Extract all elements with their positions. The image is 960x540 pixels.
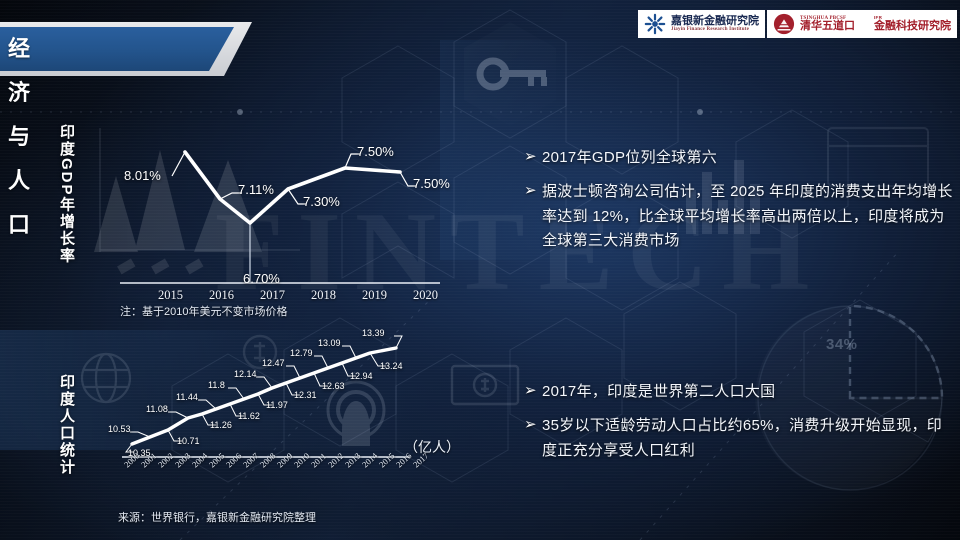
- gdp-xtick: 2015: [158, 288, 183, 303]
- gdp-growth-chart: 8.01% 7.11% 6.70% 7.30% 7.50% 7.50% 2015…: [110, 120, 470, 300]
- bullet-item: ➢ 2017年，印度是世界第二人口大国: [524, 380, 954, 404]
- gdp-xtick: 2017: [260, 288, 285, 303]
- pop-leader-2015: [342, 346, 356, 358]
- gdp-data-label: 7.50%: [357, 144, 394, 159]
- gdp-data-label: 7.50%: [413, 176, 450, 191]
- bullet-arrow-icon: ➢: [524, 380, 542, 403]
- logo-pbcsf-cn: 清华五道口: [800, 21, 855, 33]
- bullet-list-economy: ➢ 2017年GDP位列全球第六 ➢ 据波士顿咨询公司估计，至 2025 年印度…: [524, 146, 954, 263]
- pop-data-label: 12.63: [322, 381, 345, 391]
- pop-leader-2013: [314, 356, 328, 368]
- pop-leader-2007: [228, 388, 244, 399]
- pop-data-label: 10.53: [108, 424, 131, 434]
- gdp-xtick: 2020: [413, 288, 438, 303]
- pop-data-label: 12.14: [234, 369, 257, 379]
- bullet-item: ➢ 35岁以下适龄劳动人口占比约65%，消费升级开始显现，印度正充分享受人口红利: [524, 414, 954, 463]
- bullet-text: 35岁以下适龄劳动人口占比约65%，消费升级开始显现，印度正充分享受人口红利: [542, 414, 954, 463]
- pop-data-label: 12.47: [262, 358, 285, 368]
- mountain-mark-icon: [773, 13, 795, 35]
- gdp-chart-svg: [110, 120, 470, 300]
- population-axis-title: 印度人口统计: [56, 374, 77, 476]
- pop-data-label: 11.97: [266, 400, 288, 410]
- bullet-item: ➢ 2017年GDP位列全球第六: [524, 146, 954, 170]
- pop-data-label: 13.09: [318, 338, 341, 348]
- pop-data-label: 11.08: [146, 404, 168, 414]
- gdp-note: 注：基于2010年美元不变市场价格: [120, 303, 287, 319]
- pop-leader-2011: [286, 366, 300, 378]
- gdp-xtick: 2018: [311, 288, 336, 303]
- logo-ifr-cn: 金融科技研究院: [874, 21, 951, 33]
- population-unit-label: （亿人）: [404, 437, 460, 457]
- gdp-xtick: 2019: [362, 288, 387, 303]
- pop-data-label: 11.44: [176, 392, 198, 402]
- pop-data-label: 11.8: [208, 380, 225, 390]
- gdp-data-label: 8.01%: [124, 168, 161, 183]
- pop-leader-2017: [394, 336, 402, 348]
- gdp-data-label: 7.11%: [238, 182, 274, 197]
- gdp-axis-title: 印度GDP年增长率: [56, 124, 77, 265]
- bullet-item: ➢ 据波士顿咨询公司估计，至 2025 年印度的消费支出年均增长率达到 12%，…: [524, 180, 954, 253]
- bullet-arrow-icon: ➢: [524, 180, 542, 203]
- gdp-leader-2015: [172, 152, 185, 176]
- logo-pbcsf-ifr: TSINGHUA PBCSF 清华五道口 IFR 金融科技研究院: [767, 10, 957, 38]
- logo-jiayin-en: Jiayin Finance Research Institute: [671, 27, 759, 32]
- pop-leader-2005: [198, 400, 216, 409]
- pop-data-label: 12.79: [290, 348, 313, 358]
- pop-leader-2001: [130, 432, 150, 437]
- snowflake-mark-icon: [644, 13, 666, 35]
- bullet-text: 2017年，印度是世界第二人口大国: [542, 380, 775, 404]
- pop-leader-2009: [256, 377, 272, 388]
- population-source-note: 来源：世界银行，嘉银新金融研究院整理: [118, 509, 316, 525]
- pop-data-label: 13.24: [380, 361, 403, 371]
- pop-data-label: 13.39: [362, 328, 385, 338]
- bullet-text: 据波士顿咨询公司估计，至 2025 年印度的消费支出年均增长率达到 12%，比全…: [542, 180, 954, 253]
- pop-data-label: 11.62: [238, 411, 260, 421]
- bullet-text: 2017年GDP位列全球第六: [542, 146, 717, 170]
- bullet-arrow-icon: ➢: [524, 146, 542, 169]
- pop-data-label: 10.71: [177, 436, 200, 446]
- slide-root: FINTECH 34% 经济与人口 嘉银新金融: [0, 0, 960, 540]
- pop-data-label: 12.94: [350, 371, 373, 381]
- logo-jiayin-cn: 嘉银新金融研究院: [671, 16, 759, 28]
- gdp-data-label: 6.70%: [243, 271, 280, 286]
- banner-fill: [0, 27, 234, 71]
- logo-jiayin: 嘉银新金融研究院 Jiayin Finance Research Institu…: [638, 10, 765, 38]
- gdp-xtick: 2016: [209, 288, 234, 303]
- bullet-arrow-icon: ➢: [524, 414, 542, 437]
- page-title: 经济与人口: [8, 27, 31, 71]
- pop-data-label: 12.31: [294, 390, 317, 400]
- bullet-list-population: ➢ 2017年，印度是世界第二人口大国 ➢ 35岁以下适龄劳动人口占比约65%，…: [524, 380, 954, 473]
- logo-group: 嘉银新金融研究院 Jiayin Finance Research Institu…: [638, 10, 957, 38]
- pop-leader-2003: [168, 412, 188, 418]
- gdp-series-line: [185, 152, 400, 223]
- gdp-data-label: 7.30%: [303, 194, 340, 209]
- pop-data-label: 11.26: [210, 420, 232, 430]
